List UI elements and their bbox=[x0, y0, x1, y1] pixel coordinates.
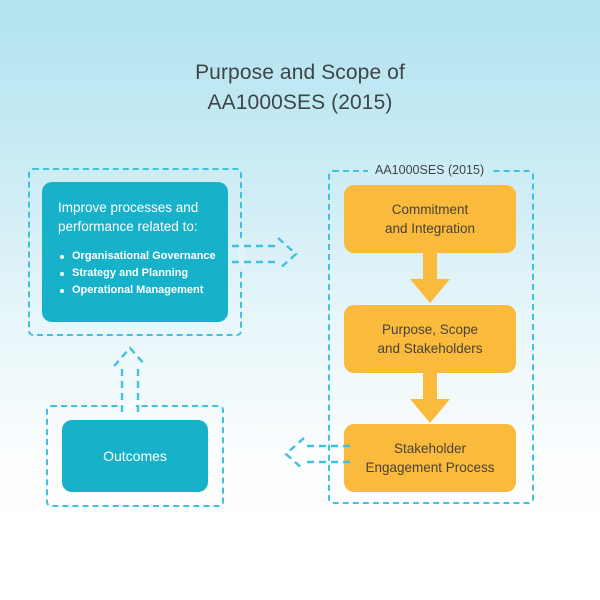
outcomes-card[interactable]: Outcomes bbox=[62, 420, 208, 492]
step-label-line-2: and Stakeholders bbox=[377, 339, 482, 358]
arrow-down-icon-commitment-to-purpose bbox=[408, 253, 452, 305]
improve-heading: Improve processes and performance relate… bbox=[58, 198, 214, 236]
diagram-canvas: Purpose and Scope of AA1000SES (2015) Im… bbox=[0, 0, 600, 600]
step-label-line-1: Commitment bbox=[392, 200, 469, 219]
step-label-line-1: Purpose, Scope bbox=[382, 320, 478, 339]
page-title-line-1: Purpose and Scope of bbox=[0, 58, 600, 88]
page-title-line-2: AA1000SES (2015) bbox=[0, 88, 600, 118]
arrow-up-icon-outcomes-to-improve bbox=[104, 336, 156, 412]
step-label-line-1: Stakeholder bbox=[394, 439, 466, 458]
step-card-commitment-and-integration[interactable]: Commitment and Integration bbox=[344, 185, 516, 253]
improve-processes-card[interactable]: Improve processes and performance relate… bbox=[42, 182, 228, 322]
improve-bullet-list: Organisational Governance Strategy and P… bbox=[58, 248, 216, 299]
arrow-right-icon-improve-to-aa1000ses bbox=[232, 228, 336, 280]
aa1000ses-group-label: AA1000SES (2015) bbox=[368, 161, 491, 179]
list-item: Strategy and Planning bbox=[58, 265, 216, 282]
page-title: Purpose and Scope of AA1000SES (2015) bbox=[0, 58, 600, 118]
step-label-line-2: Engagement Process bbox=[365, 458, 494, 477]
list-item: Operational Management bbox=[58, 282, 216, 299]
arrow-down-icon-purpose-to-stakeholder bbox=[408, 373, 452, 425]
list-item: Organisational Governance bbox=[58, 248, 216, 265]
outcomes-label: Outcomes bbox=[103, 448, 167, 464]
step-card-purpose-scope-and-stakeholders[interactable]: Purpose, Scope and Stakeholders bbox=[344, 305, 516, 373]
step-label-line-2: and Integration bbox=[385, 219, 475, 238]
arrow-left-icon-aa1000ses-to-outcomes bbox=[266, 430, 350, 478]
step-card-stakeholder-engagement-process[interactable]: Stakeholder Engagement Process bbox=[344, 424, 516, 492]
